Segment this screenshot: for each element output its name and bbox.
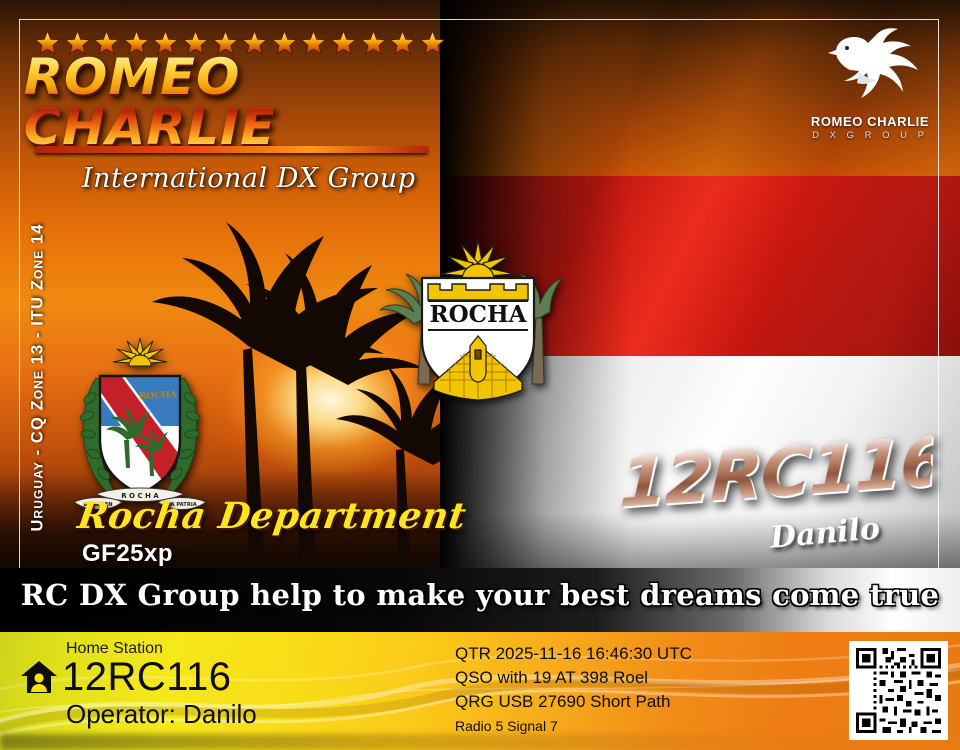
dove-logo-block: ROMEO CHARLIE D X G R O U P [800, 26, 940, 141]
title-underline [35, 146, 428, 153]
qso-line-with: QSO with 19 AT 398 Roel [455, 666, 835, 690]
rocha-coat-of-arms: ROCHA [378, 232, 578, 422]
group-subtitle: International DX Group [82, 163, 458, 194]
tagline-text: RC DX Group help to make your best dream… [0, 578, 960, 612]
qr-code[interactable] [849, 641, 948, 740]
home-station-group: Home Station 12RC116 Operator: Danilo [20, 640, 420, 730]
qso-line-qrg: QRG USB 27690 Short Path [455, 690, 835, 714]
location-name: Rocha Department [75, 495, 469, 537]
dove-logo-name: ROMEO CHARLIE [800, 114, 940, 129]
home-callsign-row: 12RC116 [20, 657, 420, 697]
zone-side-text: Uruguay - CQ Zone 13 - ITU Zone 14 [29, 178, 48, 578]
home-callsign: 12RC116 [62, 657, 232, 697]
operator-line: Operator: Danilo [66, 699, 420, 730]
callsign-art-block: 12RC116 Danilo [620, 440, 930, 570]
callsign-operator-name: Danilo [769, 511, 882, 555]
qso-line-qtr: QTR 2025-11-16 16:46:30 UTC [455, 642, 835, 666]
rocha-shield-label: ROCHA [429, 301, 527, 328]
qsl-card: ROMEO CHARLIE International DX Group Uru… [0, 0, 960, 750]
grid-square: GF25xp [82, 540, 173, 568]
dove-icon [816, 26, 924, 112]
qso-report-line: Radio 5 Signal 7 [455, 717, 835, 737]
qr-code-icon [856, 648, 941, 733]
callsign-art: 12RC116 [618, 429, 932, 518]
group-title: ROMEO CHARLIE [24, 52, 463, 152]
qso-details-group: QTR 2025-11-16 16:46:30 UTC QSO with 19 … [455, 642, 835, 737]
group-logo-block: ROMEO CHARLIE International DX Group [28, 30, 458, 194]
home-person-icon [20, 659, 58, 695]
uruguay-shield-motto: ROCHA [139, 390, 178, 402]
dove-logo-sub: D X G R O U P [800, 130, 940, 141]
